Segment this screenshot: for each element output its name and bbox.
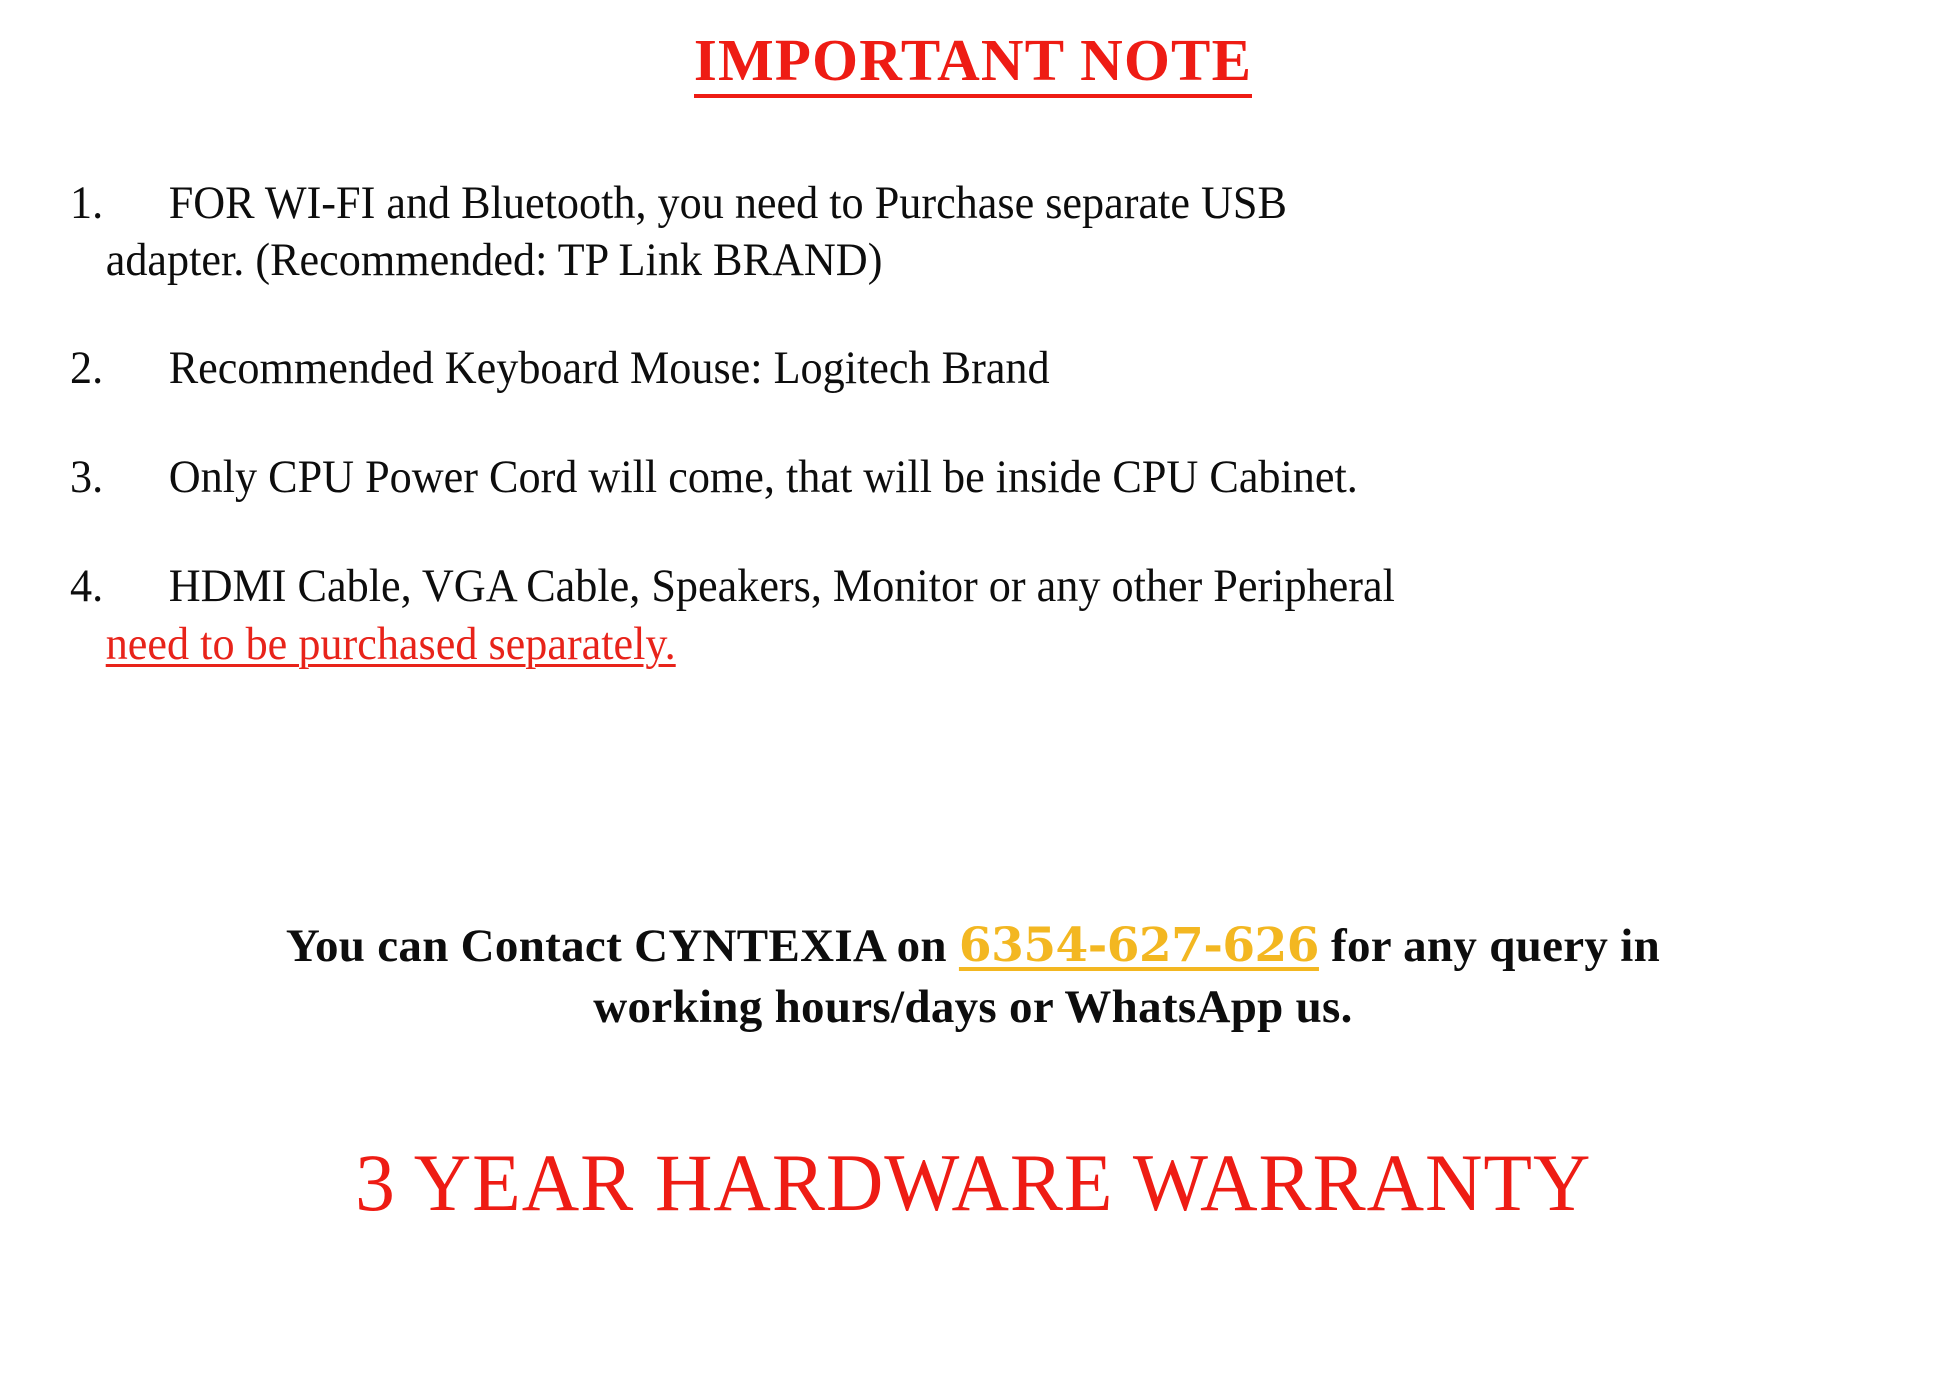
- list-item: 1. FOR WI-FI and Bluetooth, you need to …: [70, 175, 1790, 290]
- list-item: 3. Only CPU Power Cord will come, that w…: [70, 449, 1790, 506]
- contact-line-1: You can Contact CYNTEXIA on 6354-627-626…: [0, 915, 1946, 977]
- warranty-banner: 3 YEAR HARDWARE WARRANTY: [0, 1140, 1946, 1226]
- notes-list: 1. FOR WI-FI and Bluetooth, you need to …: [70, 175, 1900, 673]
- list-item-line-2: adapter. (Recommended: TP Link BRAND): [70, 232, 1790, 289]
- contact-prefix-text: You can Contact CYNTEXIA on: [286, 920, 959, 972]
- contact-suffix-text: for any query in: [1319, 920, 1660, 972]
- important-note-document: IMPORTANT NOTE 1. FOR WI-FI and Bluetoot…: [0, 0, 1946, 1377]
- list-item-line-1: Recommended Keyboard Mouse: Logitech Bra…: [70, 340, 1790, 397]
- list-item-line-1: HDMI Cable, VGA Cable, Speakers, Monitor…: [70, 558, 1790, 615]
- contact-phone-number[interactable]: 6354-627-626: [959, 918, 1319, 973]
- list-item-number: 1.: [70, 175, 169, 232]
- warranty-text: 3 YEAR HARDWARE WARRANTY: [355, 1140, 1591, 1226]
- list-item-number: 2.: [70, 340, 169, 397]
- page-title: IMPORTANT NOTE: [0, 30, 1946, 98]
- list-item-line-1: FOR WI-FI and Bluetooth, you need to Pur…: [70, 175, 1790, 232]
- contact-block: You can Contact CYNTEXIA on 6354-627-626…: [0, 915, 1946, 1038]
- page-title-text: IMPORTANT NOTE: [694, 30, 1252, 98]
- list-item-line-2-highlighted: need to be purchased separately.: [70, 616, 1790, 673]
- list-item: 2. Recommended Keyboard Mouse: Logitech …: [70, 340, 1790, 397]
- list-item-line-1: Only CPU Power Cord will come, that will…: [70, 449, 1790, 506]
- list-item-number: 4.: [70, 558, 169, 615]
- list-item-number: 3.: [70, 449, 169, 506]
- list-item: 4. HDMI Cable, VGA Cable, Speakers, Moni…: [70, 558, 1790, 673]
- contact-line-2: working hours/days or WhatsApp us.: [0, 977, 1946, 1038]
